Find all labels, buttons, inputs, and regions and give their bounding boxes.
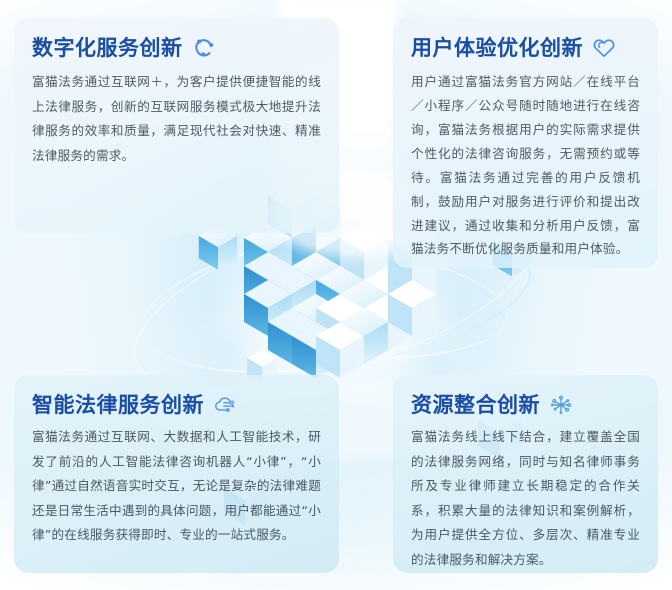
- card-title-user-experience-optimization-innovation: 用户体验优化创新: [411, 36, 640, 60]
- card-body-intelligent-legal-service-innovation: 富猫法务通过互联网、大数据和人工智能技术，研发了前沿的人工智能法律咨询机器人“小…: [32, 425, 321, 548]
- card-body-resource-integration-innovation: 富猫法务线上线下结合，建立覆盖全国的法律服务网络，同时与知名律师事务所及专业律师…: [411, 425, 640, 572]
- network-circle-icon: [192, 36, 216, 60]
- card-digital-service-innovation: 数字化服务创新 富猫法务通过互联网＋，为客户提供便捷智能的线上法律服务，创新的互…: [14, 18, 339, 233]
- cloud-ai-icon: [213, 393, 237, 417]
- heart-icon: [592, 36, 616, 60]
- card-title-text: 资源整合创新: [411, 395, 540, 416]
- card-intelligent-legal-service-innovation: 智能法律服务创新 富猫法务通过互联网、大数据和人工智能技术，研发了前沿的人工智能…: [14, 375, 339, 573]
- card-user-experience-optimization-innovation: 用户体验优化创新 用户通过富猫法务官方网站／在线平台／小程序／公众号随时随地进行…: [393, 18, 658, 268]
- card-title-resource-integration-innovation: 资源整合创新: [411, 393, 640, 417]
- card-body-user-experience-optimization-innovation: 用户通过富猫法务官方网站／在线平台／小程序／公众号随时随地进行在线咨询，富猫法务…: [411, 70, 640, 261]
- card-title-digital-service-innovation: 数字化服务创新: [32, 36, 321, 60]
- page-root: 数字化服务创新 富猫法务通过互联网＋，为客户提供便捷智能的线上法律服务，创新的互…: [0, 0, 672, 590]
- node-network-icon: [549, 393, 573, 417]
- card-body-digital-service-innovation: 富猫法务通过互联网＋，为客户提供便捷智能的线上法律服务，创新的互联网服务模式极大…: [32, 70, 321, 168]
- card-title-text: 智能法律服务创新: [32, 395, 204, 416]
- card-title-text: 数字化服务创新: [32, 38, 183, 59]
- card-title-intelligent-legal-service-innovation: 智能法律服务创新: [32, 393, 321, 417]
- card-resource-integration-innovation: 资源整合创新: [393, 375, 658, 573]
- card-title-text: 用户体验优化创新: [411, 38, 583, 59]
